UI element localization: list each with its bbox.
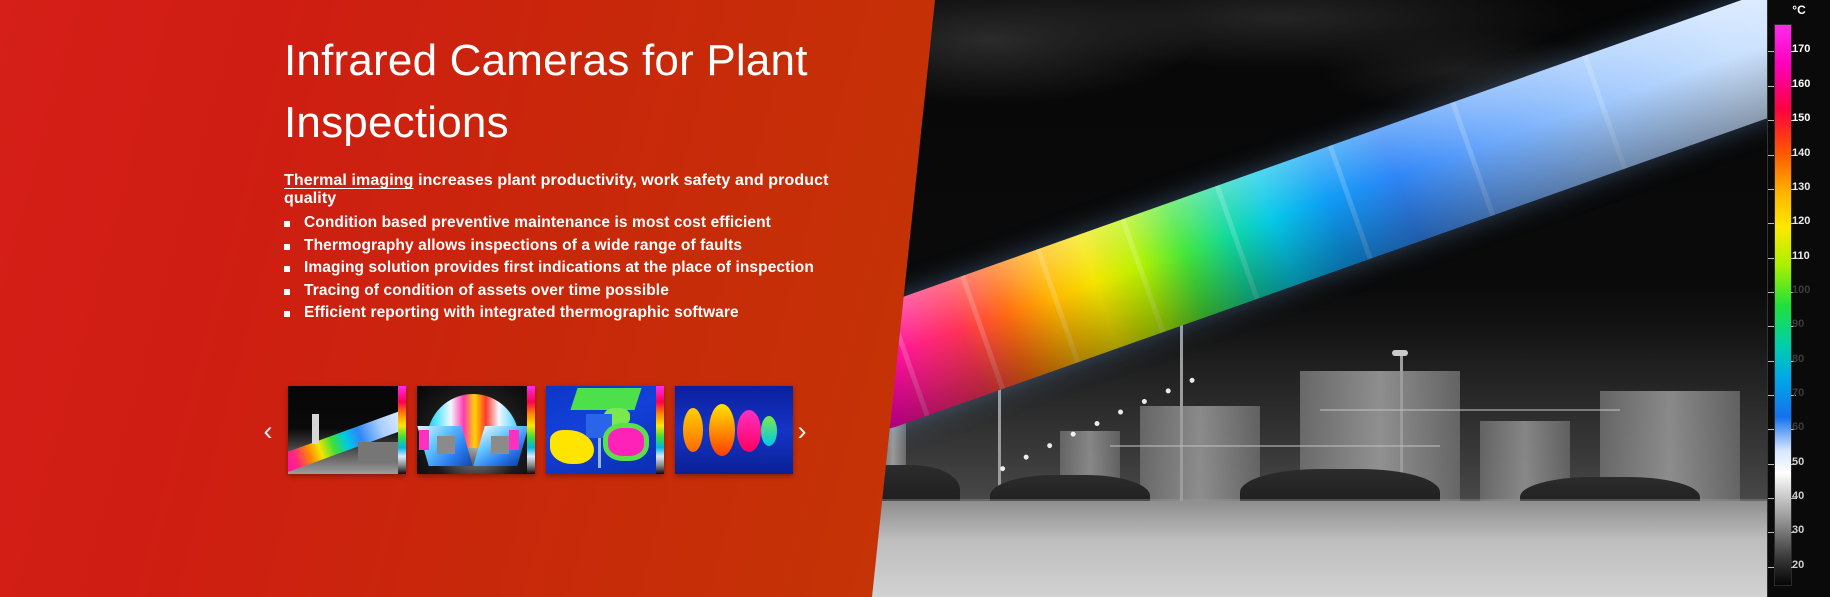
light-lamp xyxy=(1392,350,1408,356)
temperature-tick-list: 1701601501401301201101009080706050403020 xyxy=(1768,24,1830,584)
ground-slab xyxy=(760,501,1830,597)
walkway-rail xyxy=(1320,409,1620,411)
benefit-item: Thermography allows inspections of a wid… xyxy=(284,235,904,258)
carousel-thumbnail[interactable] xyxy=(417,386,535,474)
temperature-scale: °C 1701601501401301201101009080706050403… xyxy=(1767,0,1830,597)
benefit-item: Efficient reporting with integrated ther… xyxy=(284,302,904,325)
benefit-item: Condition based preventive maintenance i… xyxy=(284,212,904,235)
benefits-list: Condition based preventive maintenance i… xyxy=(284,212,904,325)
thumbnail-strip xyxy=(288,386,794,474)
carousel-next-icon[interactable]: › xyxy=(789,414,815,448)
carousel-thumbnail[interactable] xyxy=(288,386,406,474)
carousel-thumbnail[interactable] xyxy=(546,386,664,474)
content-panel: Infrared Cameras for Plant Inspections T… xyxy=(0,0,935,597)
horizon-line xyxy=(760,499,1830,501)
walkway-rail xyxy=(1110,445,1440,447)
thermal-imaging-link[interactable]: Thermal imaging xyxy=(284,172,414,189)
benefit-item: Tracing of condition of assets over time… xyxy=(284,280,904,303)
carousel-prev-icon[interactable]: ‹ xyxy=(255,414,281,448)
thumbnail-scale-bar xyxy=(527,386,535,474)
page-title: Infrared Cameras for Plant Inspections xyxy=(284,30,884,154)
thumbnail-scale-bar xyxy=(398,386,406,474)
thumbnail-scale-bar xyxy=(656,386,664,474)
slide-canvas: °C 1701601501401301201101009080706050403… xyxy=(0,0,1830,597)
thumbnail-carousel: ‹ xyxy=(255,386,825,486)
temperature-unit-label: °C xyxy=(1768,0,1830,17)
carousel-thumbnail[interactable] xyxy=(675,386,793,474)
benefit-item: Imaging solution provides first indicati… xyxy=(284,257,904,280)
lead-paragraph: Thermal imaging increases plant producti… xyxy=(284,172,884,208)
